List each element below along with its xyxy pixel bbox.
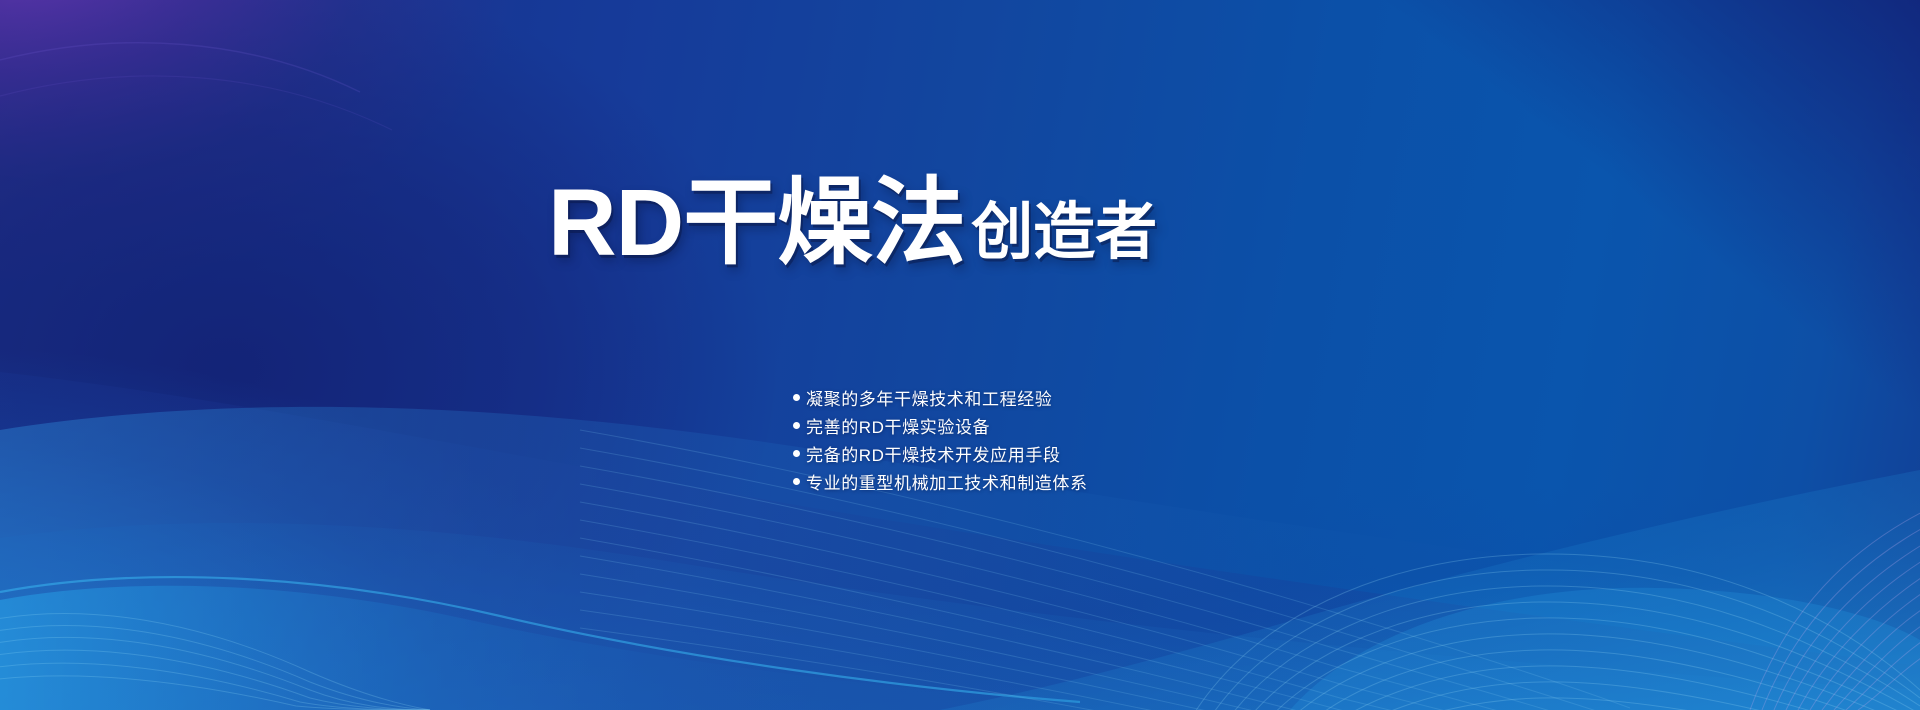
page-title: RD干燥法 创造者	[548, 176, 1157, 271]
feature-label: 完善的RD干燥实验设备	[806, 413, 990, 438]
feature-label: 专业的重型机械加工技术和制造体系	[806, 469, 1088, 494]
bullet-icon	[793, 450, 800, 457]
bullet-icon	[793, 394, 800, 401]
feature-list: 凝聚的多年干燥技术和工程经验 完善的RD干燥实验设备 完备的RD干燥技术开发应用…	[793, 383, 1088, 495]
bullet-icon	[793, 478, 800, 485]
feature-label: 凝聚的多年干燥技术和工程经验	[806, 385, 1052, 410]
hero-banner: RD干燥法 创造者 凝聚的多年干燥技术和工程经验 完善的RD干燥实验设备 完备的…	[0, 0, 1920, 710]
list-item: 完善的RD干燥实验设备	[793, 411, 1088, 439]
headline-main-text: RD干燥法	[548, 176, 965, 271]
bullet-icon	[793, 422, 800, 429]
list-item: 专业的重型机械加工技术和制造体系	[793, 467, 1088, 495]
list-item: 完备的RD干燥技术开发应用手段	[793, 439, 1088, 467]
feature-label: 完备的RD干燥技术开发应用手段	[806, 441, 1061, 466]
list-item: 凝聚的多年干燥技术和工程经验	[793, 383, 1088, 411]
banner-content: RD干燥法 创造者 凝聚的多年干燥技术和工程经验 完善的RD干燥实验设备 完备的…	[0, 0, 1920, 710]
headline-sub-text: 创造者	[971, 202, 1157, 264]
